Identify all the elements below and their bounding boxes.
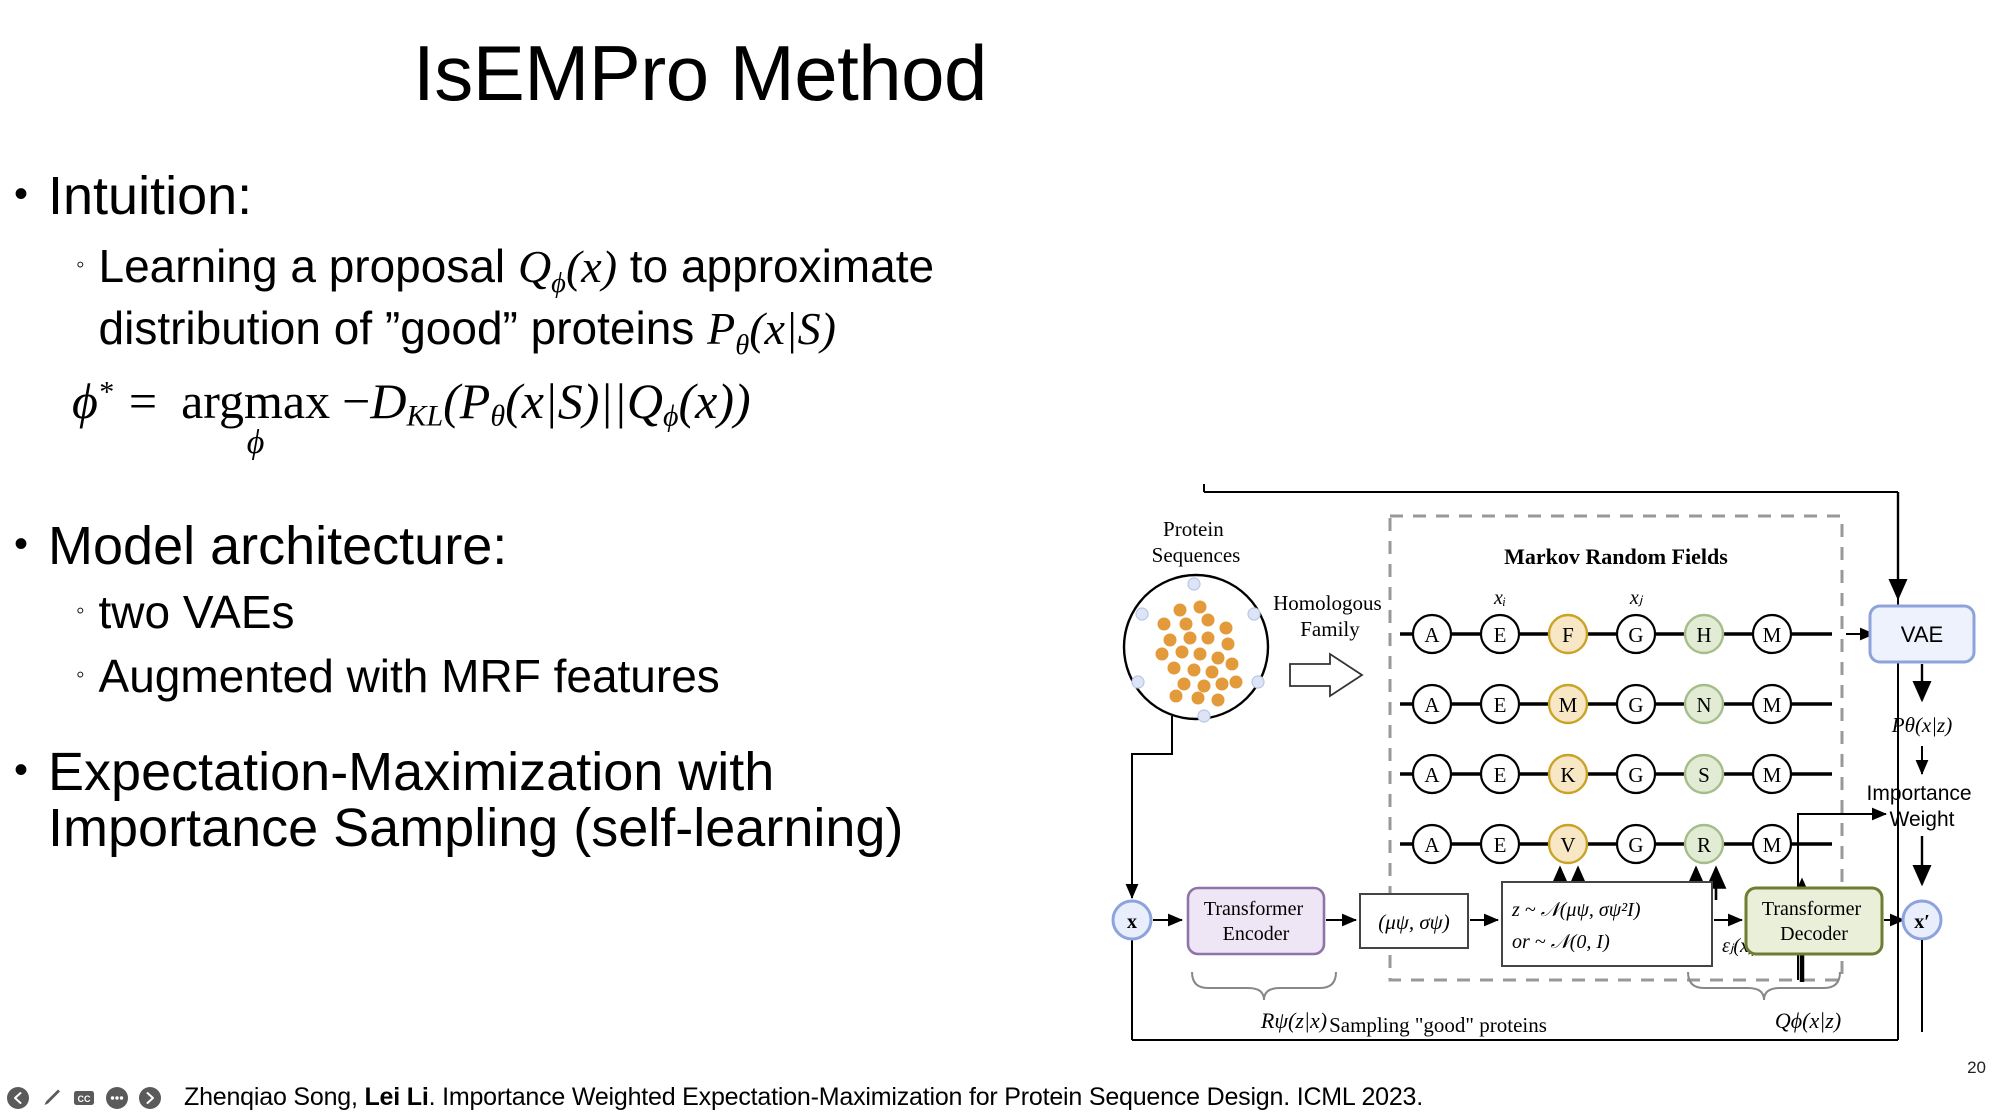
- svg-text:G: G: [1628, 693, 1643, 717]
- svg-text:V: V: [1560, 833, 1575, 857]
- svg-text:E: E: [1494, 623, 1507, 647]
- label-homologous-family: Homologous Family: [1273, 591, 1387, 641]
- bullet-em-label: Expectation-Maximization with Importance…: [48, 744, 903, 857]
- subbullet-learning-proposal: ◦ Learning a proposal Qϕ(x) to approxima…: [76, 239, 1124, 363]
- objective-formula: ϕ* = argmax ϕ − DKL (Pθ(x|S)||Qϕ(x)): [72, 372, 1124, 462]
- svg-text:S: S: [1698, 763, 1710, 787]
- svg-text:E: E: [1494, 833, 1507, 857]
- label-p-theta-x-given-z: Pθ(x|z): [1891, 713, 1952, 737]
- mrf-row: A E F G H M: [1400, 615, 1832, 653]
- svg-text:R: R: [1697, 833, 1711, 857]
- subbullet-mrf-features-label: Augmented with MRF features: [99, 649, 720, 703]
- label-x-j: xⱼ: [1629, 587, 1644, 609]
- svg-text:E: E: [1494, 693, 1507, 717]
- citation-author1: Zhenqiao Song,: [184, 1083, 364, 1111]
- svg-text:K: K: [1560, 763, 1575, 787]
- bullet-intuition-label: Intuition:: [48, 168, 252, 225]
- label-r-psi: Rψ(z|x): [1260, 1008, 1327, 1033]
- svg-text:M: M: [1763, 693, 1782, 717]
- bullet-model-architecture: • Model architecture:: [14, 518, 1124, 575]
- label-q-phi: Qϕ(x|z): [1775, 1008, 1841, 1033]
- bullet-intuition: • Intuition:: [14, 168, 1124, 225]
- mrf-row: A E M G N M: [1400, 685, 1832, 723]
- subbullet-mrf-features: ◦ Augmented with MRF features: [76, 649, 1124, 703]
- citation-text: Zhenqiao Song, Lei Li. Importance Weight…: [184, 1083, 1423, 1112]
- citation-rest: . Importance Weighted Expectation-Maximi…: [429, 1083, 1423, 1111]
- more-icon[interactable]: [105, 1086, 129, 1110]
- formula-equals: =: [129, 372, 157, 430]
- latent-sampling-box: [1502, 882, 1712, 966]
- brace-r-psi: [1192, 972, 1336, 1000]
- subbullet-line1-post: to approximate: [617, 240, 934, 292]
- citation-author2: Lei Li: [364, 1083, 428, 1111]
- bullet-marker: •: [14, 524, 28, 564]
- subbullet-marker: ◦: [76, 663, 85, 687]
- svg-text:G: G: [1628, 833, 1643, 857]
- svg-text:M: M: [1763, 763, 1782, 787]
- page-number: 20: [1967, 1058, 1986, 1078]
- bullet-model-architecture-label: Model architecture:: [48, 518, 507, 575]
- mrf-row: A E K G S M: [1400, 755, 1832, 793]
- bullet-em-line2: Importance Sampling (self-learning): [48, 798, 903, 858]
- svg-text:N: N: [1696, 693, 1711, 717]
- svg-text:G: G: [1628, 763, 1643, 787]
- brace-q-phi: [1688, 972, 1840, 1000]
- formula-minus: −: [342, 372, 370, 430]
- subbullet-text: Learning a proposal Qϕ(x) to approximate…: [99, 239, 935, 363]
- formula-argmax: argmax ϕ: [181, 372, 330, 462]
- svg-text:M: M: [1763, 833, 1782, 857]
- svg-text:A: A: [1424, 833, 1440, 857]
- formula-body: (Pθ(x|S)||Qϕ(x)): [443, 372, 751, 434]
- slide-footer: CC Zhenqiao Song, Lei Li. Importance Wei…: [0, 1083, 2000, 1112]
- formula-dkl: DKL: [370, 372, 443, 434]
- subbullet-two-vaes: ◦ two VAEs: [76, 585, 1124, 639]
- svg-text:CC: CC: [78, 1094, 91, 1104]
- pen-icon[interactable]: [39, 1086, 63, 1110]
- formula-phi-star: ϕ*: [72, 372, 113, 430]
- bullet-em-line1: Expectation-Maximization with: [48, 742, 774, 802]
- slide-canvas: IsEMPro Method • Intuition: ◦ Learning a…: [0, 0, 2000, 1114]
- svg-text:H: H: [1696, 623, 1711, 647]
- svg-text:E: E: [1494, 763, 1507, 787]
- label-protein-sequences: Protein Sequences: [1152, 517, 1241, 567]
- bullet-marker: •: [14, 174, 28, 214]
- svg-text:A: A: [1424, 693, 1440, 717]
- bullet-marker: •: [14, 750, 28, 790]
- mrf-title: Markov Random Fields: [1504, 544, 1728, 569]
- bullet-list: • Intuition: ◦ Learning a proposal Qϕ(x)…: [14, 168, 1124, 857]
- forward-icon[interactable]: [138, 1086, 162, 1110]
- vae-label: VAE: [1901, 622, 1943, 647]
- formula-argmax-top: argmax: [181, 372, 330, 430]
- cc-icon[interactable]: CC: [72, 1086, 96, 1110]
- subbullet-line1-pre: Learning a proposal: [99, 240, 518, 292]
- label-sampling-good-proteins: Sampling "good" proteins: [1329, 1013, 1547, 1037]
- formula-argmax-sub: ϕ: [247, 424, 265, 462]
- presentation-toolbar[interactable]: CC: [6, 1086, 162, 1110]
- mu-sigma-label: (μψ, σψ): [1378, 910, 1449, 934]
- mrf-row: A E V G R M: [1400, 825, 1832, 863]
- svg-text:A: A: [1424, 763, 1440, 787]
- subbullet-marker: ◦: [76, 599, 85, 623]
- subbullet-two-vaes-label: two VAEs: [99, 585, 295, 639]
- subbullet-line2-pre: distribution of ”good” proteins: [99, 302, 708, 354]
- svg-text:G: G: [1628, 623, 1643, 647]
- x-output-label: x′: [1914, 911, 1930, 933]
- svg-text:M: M: [1559, 693, 1578, 717]
- svg-text:A: A: [1424, 623, 1440, 647]
- x-input-label: x: [1127, 911, 1137, 933]
- subbullet-marker: ◦: [76, 253, 85, 277]
- bullet-em-importance-sampling: • Expectation-Maximization with Importan…: [14, 744, 1124, 857]
- math-q-phi-x: Qϕ(x): [518, 241, 617, 292]
- mrf-grid: A E F G H M A E: [1400, 615, 1832, 863]
- label-importance-weight: Importance Weight: [1867, 782, 1978, 831]
- svg-text:F: F: [1562, 623, 1574, 647]
- label-x-i: xᵢ: [1493, 587, 1506, 609]
- page-title: IsEMPro Method: [0, 28, 1400, 119]
- block-arrow-icon: [1290, 654, 1362, 696]
- back-icon[interactable]: [6, 1086, 30, 1110]
- svg-text:M: M: [1763, 623, 1782, 647]
- isempro-architecture-diagram: Protein Sequences: [1108, 432, 1988, 1056]
- math-p-theta-x-s: Pθ(x|S): [707, 303, 836, 354]
